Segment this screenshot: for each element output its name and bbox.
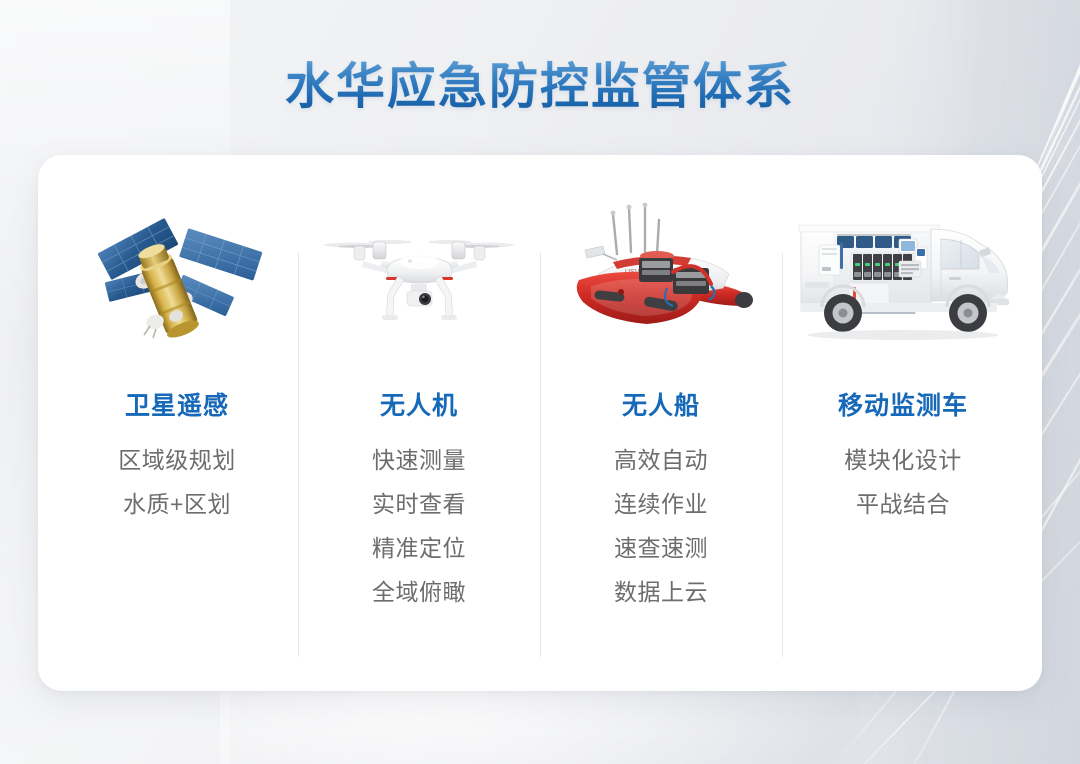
feature-item: 区域级规划	[118, 447, 236, 473]
feature-item: 实时查看	[372, 491, 466, 517]
page-title: 水华应急防控监管体系	[0, 56, 1080, 118]
feature-item: 平战结合	[856, 491, 950, 517]
feature-item: 精准定位	[372, 535, 466, 561]
capability-column-monitoring-vehicle[interactable]: 移动监测车 模块化设计 平战结合	[782, 199, 1024, 661]
unmanned-boat-icon: USV	[548, 199, 774, 349]
capability-columns: 卫星遥感 区域级规划 水质+区划	[38, 155, 1042, 691]
feature-item: 连续作业	[614, 491, 708, 517]
feature-item: 速查速测	[614, 535, 708, 561]
capability-card: 卫星遥感 区域级规划 水质+区划	[38, 155, 1042, 691]
capability-feature-list: 快速测量 实时查看 精准定位 全域俯瞰	[372, 447, 466, 605]
feature-item: 模块化设计	[844, 447, 962, 473]
poster-canvas: 水华应急防控监管体系	[0, 0, 1080, 764]
satellite-icon	[64, 199, 290, 349]
mobile-monitoring-vehicle-icon	[790, 199, 1016, 349]
feature-item: 数据上云	[614, 579, 708, 605]
capability-column-unmanned-boat[interactable]: USV	[540, 199, 782, 661]
feature-item: 全域俯瞰	[372, 579, 466, 605]
capability-title: 无人机	[380, 391, 458, 421]
capability-feature-list: 模块化设计 平战结合	[844, 447, 962, 517]
capability-column-satellite[interactable]: 卫星遥感 区域级规划 水质+区划	[56, 199, 298, 661]
drone-icon	[306, 199, 532, 349]
feature-item: 高效自动	[614, 447, 708, 473]
feature-item: 快速测量	[372, 447, 466, 473]
capability-title: 无人船	[622, 391, 700, 421]
capability-title: 移动监测车	[838, 391, 968, 421]
capability-title: 卫星遥感	[125, 391, 229, 421]
capability-feature-list: 高效自动 连续作业 速查速测 数据上云	[614, 447, 708, 605]
capability-column-drone[interactable]: 无人机 快速测量 实时查看 精准定位 全域俯瞰	[298, 199, 540, 661]
capability-feature-list: 区域级规划 水质+区划	[118, 447, 236, 517]
feature-item: 水质+区划	[123, 491, 231, 517]
